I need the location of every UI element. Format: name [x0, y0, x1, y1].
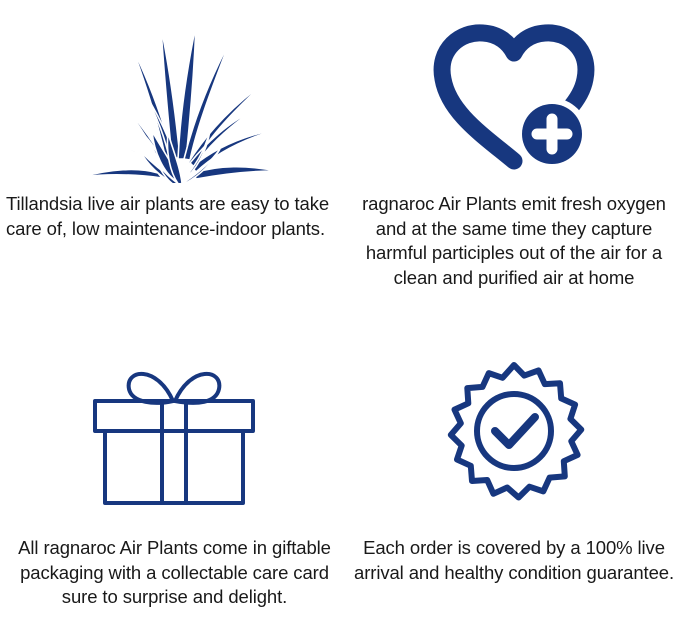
feature-panel-live-arrival-guarantee: Each order is covered by a 100% live arr… [349, 308, 679, 617]
panel-caption: Tillandsia live air plants are easy to t… [0, 192, 349, 241]
heart-plus-icon [349, 0, 679, 188]
gift-box-icon [0, 308, 349, 526]
panel-caption: Each order is covered by a 100% live arr… [349, 536, 679, 585]
panel-caption: ragnaroc Air Plants emit fresh oxygen an… [349, 192, 679, 290]
verified-badge-icon [349, 308, 679, 526]
feature-grid: Tillandsia live air plants are easy to t… [0, 0, 679, 617]
feature-panel-giftable-packaging: All ragnaroc Air Plants come in giftable… [0, 308, 349, 617]
air-plant-icon [0, 0, 349, 188]
panel-caption: All ragnaroc Air Plants come in giftable… [0, 536, 349, 610]
feature-panel-air-plant-care: Tillandsia live air plants are easy to t… [0, 0, 349, 308]
feature-panel-fresh-oxygen: ragnaroc Air Plants emit fresh oxygen an… [349, 0, 679, 308]
